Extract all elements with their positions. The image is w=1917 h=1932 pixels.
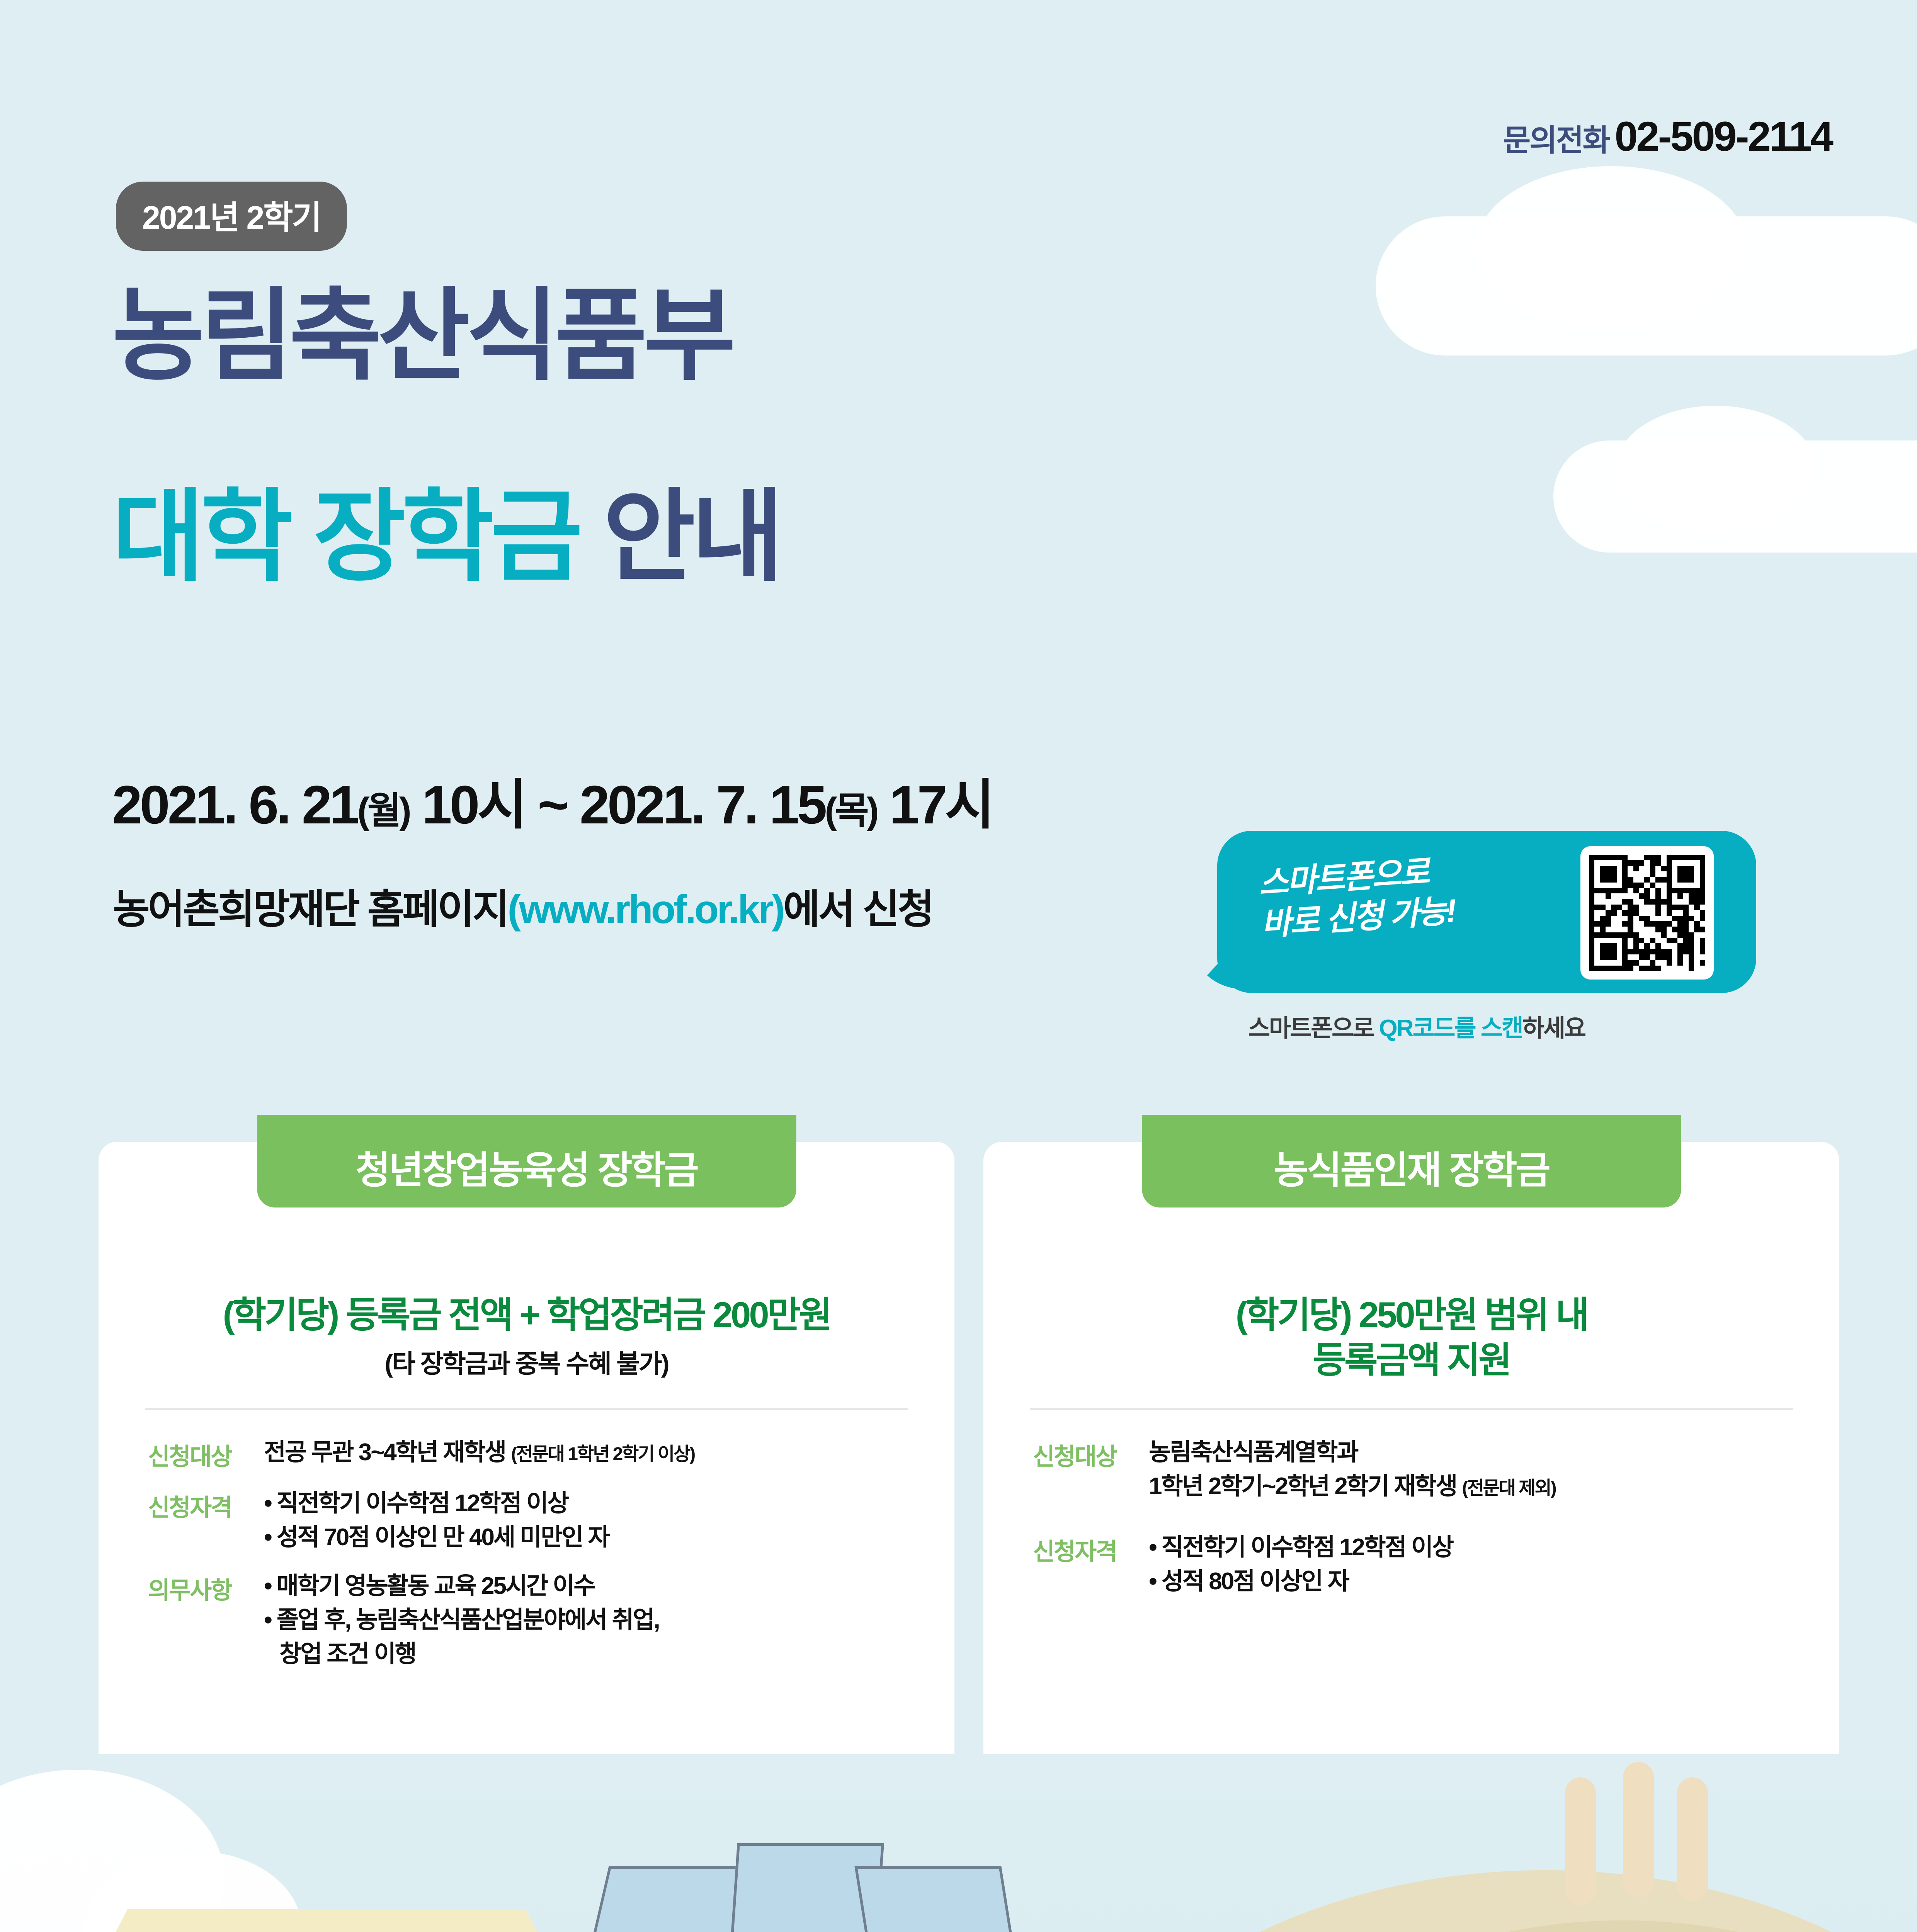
detail-row-label: 신청자격 <box>1033 1531 1149 1599</box>
qr-caption-highlight: QR코드를 스캔 <box>1379 1015 1522 1042</box>
detail-row: 신청대상 농림축산식품계열학과 1학년 2학기~2학년 2학기 재학생 (전문대… <box>1033 1435 1801 1503</box>
card-amount-block: (학기당) 등록금 전액 + 학업장려금 200만원 (타 장학금과 중복 수혜… <box>99 1293 954 1380</box>
detail-line: • 성적 80점 이상인 자 <box>1149 1565 1801 1599</box>
poplar-tree <box>1677 1777 1708 1901</box>
detail-text: 전공 무관 3~4학년 재학생 <box>264 1439 505 1466</box>
detail-line: 전공 무관 3~4학년 재학생 (전문대 1학년 2학기 이상) <box>264 1435 916 1469</box>
page-title-teal: 대학 장학금 <box>112 481 579 593</box>
period-separator: ~ <box>538 774 567 835</box>
card-divider <box>1030 1408 1793 1410</box>
detail-line: 1학년 2학기~2학년 2학기 재학생 (전문대 제외) <box>1149 1469 1801 1503</box>
period-start-date: 2021. 6. 21 <box>112 774 357 835</box>
period-start-day: (월) <box>357 790 409 832</box>
detail-line: 창업 조건 이행 <box>264 1637 916 1671</box>
detail-row: 의무사항 • 매학기 영농활동 교육 25시간 이수 • 졸업 후, 농림축산식… <box>148 1569 916 1671</box>
scholarship-card-agrifood-talent: 농식품인재 장학금 (학기당) 250만원 범위 내 등록금액 지원 신청대상 … <box>983 1142 1839 1804</box>
qr-caption: 스마트폰으로 QR코드를 스캔하세요 <box>1248 1009 1585 1043</box>
cloud-shape <box>1476 166 1747 328</box>
card-detail-rows: 신청대상 전공 무관 3~4학년 재학생 (전문대 1학년 2학기 이상) 신청… <box>148 1435 916 1686</box>
detail-row-body: • 직전학기 이수학점 12학점 이상 • 성적 80점 이상인 자 <box>1149 1531 1801 1599</box>
poplar-tree <box>1565 1777 1596 1905</box>
detail-row-body: • 매학기 영농활동 교육 25시간 이수 • 졸업 후, 농림축산식품산업분야… <box>264 1569 916 1671</box>
cloud-shape <box>1615 406 1816 533</box>
application-period: 2021. 6. 21(월) 10시 ~ 2021. 7. 15(목) 17시 <box>112 761 992 839</box>
detail-row-body: 전공 무관 3~4학년 재학생 (전문대 1학년 2학기 이상) <box>264 1435 916 1472</box>
detail-line: • 직전학기 이수학점 12학점 이상 <box>1149 1531 1801 1565</box>
phone-label: 문의전화 <box>1503 116 1609 160</box>
semester-badge: 2021년 2학기 <box>116 182 347 251</box>
card-detail-rows: 신청대상 농림축산식품계열학과 1학년 2학기~2학년 2학기 재학생 (전문대… <box>1033 1435 1801 1613</box>
detail-line: 농림축산식품계열학과 <box>1149 1435 1801 1469</box>
card-ribbon: 청년창업농육성 장학금 <box>257 1115 796 1207</box>
detail-line: • 직전학기 이수학점 12학점 이상 <box>264 1486 916 1520</box>
card-amount-block: (학기당) 250만원 범위 내 등록금액 지원 <box>983 1293 1839 1388</box>
detail-row-body: • 직전학기 이수학점 12학점 이상 • 성적 70점 이상인 만 40세 미… <box>264 1486 916 1554</box>
contact-phone: 문의전화 02-509-2114 <box>1503 112 1832 160</box>
detail-line: • 매학기 영농활동 교육 25시간 이수 <box>264 1569 916 1603</box>
detail-line: • 졸업 후, 농림축산식품산업분야에서 취업, <box>264 1603 916 1637</box>
farm-illustration <box>0 1754 1917 1932</box>
detail-row: 신청자격 • 직전학기 이수학점 12학점 이상 • 성적 80점 이상인 자 <box>1033 1531 1801 1599</box>
detail-line: • 성적 70점 이상인 만 40세 미만인 자 <box>264 1520 916 1554</box>
detail-row: 신청대상 전공 무관 3~4학년 재학생 (전문대 1학년 2학기 이상) <box>148 1435 916 1472</box>
greenhouse-frame <box>572 1820 1039 1932</box>
poplar-tree <box>1623 1762 1654 1897</box>
market-tent-canopy <box>50 1909 603 1932</box>
phone-number: 02-509-2114 <box>1614 112 1832 160</box>
period-end-date: 2021. 7. 15 <box>580 774 825 835</box>
card-amount-main: (학기당) 250만원 범위 내 등록금액 지원 <box>983 1293 1839 1383</box>
qr-caption-pre: 스마트폰으로 <box>1248 1015 1379 1042</box>
detail-text: 1학년 2학기~2학년 2학기 재학생 <box>1149 1473 1456 1500</box>
detail-row-body: 농림축산식품계열학과 1학년 2학기~2학년 2학기 재학생 (전문대 제외) <box>1149 1435 1801 1503</box>
card-amount-main: (학기당) 등록금 전액 + 학업장려금 200만원 <box>99 1293 954 1338</box>
apply-instruction: 농어촌희망재단 홈페이지(www.rhof.or.kr)에서 신청 <box>113 876 933 935</box>
detail-row-label: 신청자격 <box>148 1486 264 1554</box>
qr-code-icon[interactable] <box>1580 846 1714 980</box>
card-title: 청년창업농육성 장학금 <box>356 1139 697 1194</box>
card-amount-note: (타 장학금과 중복 수혜 불가) <box>99 1343 954 1380</box>
detail-row: 신청자격 • 직전학기 이수학점 12학점 이상 • 성적 70점 이상인 만 … <box>148 1486 916 1554</box>
apply-suffix: 에서 신청 <box>783 887 933 932</box>
detail-note: (전문대 제외) <box>1462 1478 1555 1498</box>
page-title-line1: 농림축산식품부 <box>112 286 732 386</box>
card-divider <box>145 1408 908 1410</box>
poster-root: 문의전화 02-509-2114 2021년 2학기 농림축산식품부 대학 장학… <box>0 0 1917 1932</box>
detail-row-label: 신청대상 <box>148 1435 264 1472</box>
page-title-navy: 안내 <box>603 481 780 593</box>
detail-note: (전문대 1학년 2학기 이상) <box>511 1444 694 1464</box>
apply-prefix: 농어촌희망재단 홈페이지 <box>113 887 507 932</box>
period-end-day: (목) <box>825 790 877 832</box>
page-title-line2: 대학 장학금 안내 <box>112 487 780 587</box>
period-start-time: 10시 <box>422 774 525 835</box>
card-ribbon: 농식품인재 장학금 <box>1142 1115 1681 1207</box>
card-title: 농식품인재 장학금 <box>1274 1139 1549 1194</box>
qr-caption-post: 하세요 <box>1522 1015 1585 1042</box>
detail-row-label: 신청대상 <box>1033 1435 1149 1503</box>
period-end-time: 17시 <box>890 774 993 835</box>
scholarship-card-youth-startup-farming: 청년창업농육성 장학금 (학기당) 등록금 전액 + 학업장려금 200만원 (… <box>99 1142 954 1804</box>
detail-text-indented: 창업 조건 이행 <box>264 1637 416 1671</box>
detail-row-label: 의무사항 <box>148 1569 264 1671</box>
apply-url[interactable]: (www.rhof.or.kr) <box>507 887 783 932</box>
